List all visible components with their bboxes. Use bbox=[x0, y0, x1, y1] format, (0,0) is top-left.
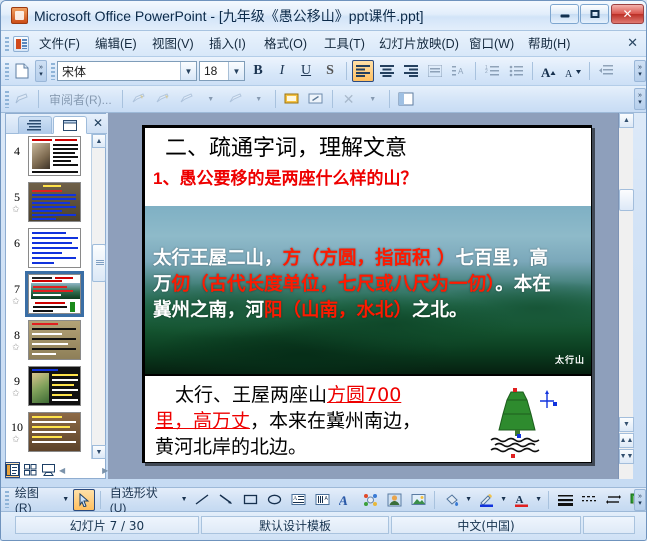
slide-title-band: 二、疏通字词，理解文意 1、愚公要移的是两座什么样的山？ bbox=[145, 128, 591, 206]
slides-pane: ✕ 4 bbox=[5, 113, 106, 479]
svg-text:A: A bbox=[293, 496, 298, 502]
close-button[interactable]: ✕ bbox=[611, 4, 644, 24]
close-document-button[interactable]: ✕ bbox=[627, 35, 638, 51]
edit-comment-icon[interactable] bbox=[305, 88, 327, 110]
apply-dropdown-icon[interactable]: ▼ bbox=[200, 88, 222, 110]
fill-color-tool[interactable] bbox=[440, 489, 462, 511]
draw-menu-button[interactable]: 绘图(R) bbox=[11, 489, 59, 511]
dash-style-tool[interactable] bbox=[578, 489, 600, 511]
slide-question-text[interactable]: 1、愚公要移的是两座什么样的山？ bbox=[153, 164, 417, 189]
scrollbar-thumb[interactable] bbox=[619, 189, 634, 211]
picture-tool[interactable] bbox=[407, 489, 429, 511]
toolbar-separator bbox=[100, 491, 101, 509]
minimize-button[interactable] bbox=[550, 4, 579, 24]
powerpoint-icon bbox=[11, 7, 28, 24]
menu-bar: 文件(F) 编辑(E) 视图(V) 插入(I) 格式(O) 工具(T) 幻灯片放… bbox=[1, 31, 647, 57]
svg-text:A: A bbox=[515, 494, 523, 506]
drawing-toolbar-overflow-icon[interactable]: »▾ bbox=[634, 489, 646, 511]
next-comment-icon[interactable] bbox=[152, 88, 174, 110]
slide-canvas-area[interactable]: 二、疏通字词，理解文意 1、愚公要移的是两座什么样的山？ 太行王屋二山，方（方圆… bbox=[108, 113, 633, 479]
menu-item-help[interactable]: 帮助(H) bbox=[522, 34, 576, 54]
toolbar-separator bbox=[346, 62, 347, 80]
align-center-button[interactable] bbox=[376, 60, 398, 82]
bold-button[interactable]: B bbox=[247, 60, 269, 82]
font-color-dropdown-icon[interactable]: ▼ bbox=[534, 489, 543, 511]
thumbnail-list[interactable]: 4 bbox=[6, 134, 92, 459]
numbered-list-button[interactable]: 12 bbox=[481, 60, 503, 82]
title-bar: Microsoft Office PowerPoint - [九年级《愚公移山》… bbox=[1, 1, 647, 31]
toolbar-separator bbox=[38, 90, 39, 108]
animation-star-icon: ✩ bbox=[12, 342, 20, 353]
current-slide[interactable]: 二、疏通字词，理解文意 1、愚公要移的是两座什么样的山？ 太行王屋二山，方（方圆… bbox=[142, 125, 592, 463]
line1-seg1: 太行王屋二山， bbox=[153, 248, 283, 269]
toolbar-separator bbox=[548, 491, 549, 509]
review-toolbar-grip-handle[interactable] bbox=[5, 91, 9, 108]
line-tool[interactable] bbox=[191, 489, 213, 511]
toolbar-separator bbox=[122, 90, 123, 108]
thumbnail-image[interactable] bbox=[28, 366, 81, 406]
work-area: ✕ 4 bbox=[1, 113, 647, 483]
toolbar-separator bbox=[332, 90, 333, 108]
thumbnail-number: 6 bbox=[6, 228, 28, 251]
bulleted-list-button[interactable] bbox=[505, 60, 527, 82]
slide-body-line-1[interactable]: 太行王屋二山，方（方圆，指面积 ）七百里，高 bbox=[153, 244, 548, 270]
line-spacing-button[interactable]: A bbox=[448, 60, 470, 82]
slide-body-line-2[interactable]: 万仞（古代长度单位，七尺或八尺为一仞）。本在 bbox=[153, 270, 551, 296]
menu-item-view[interactable]: 视图(V) bbox=[146, 34, 200, 54]
slide-body-line-3[interactable]: 冀州之南，河阳（山南，水北）之北。 bbox=[153, 296, 468, 322]
thumbnail-image-current[interactable] bbox=[28, 274, 81, 314]
font-name-input[interactable]: 宋体 ▼ bbox=[57, 61, 197, 81]
markup-icon[interactable] bbox=[11, 88, 33, 110]
menu-item-window[interactable]: 窗口(W) bbox=[463, 34, 520, 54]
powerpoint-window: Microsoft Office PowerPoint - [九年级《愚公移山》… bbox=[0, 0, 647, 541]
toolbar-separator bbox=[434, 491, 435, 509]
thumbnail-image[interactable] bbox=[28, 320, 81, 360]
toolbar-overflow-icon[interactable]: »▾ bbox=[634, 60, 646, 82]
font-size-input[interactable]: 18 ▼ bbox=[199, 61, 245, 81]
autoshapes-dropdown-icon[interactable]: ▼ bbox=[179, 489, 189, 511]
revisions-pane-icon[interactable] bbox=[395, 88, 417, 110]
review-toolbar-overflow-icon[interactable]: »▾ bbox=[634, 88, 646, 110]
delete-dropdown-icon[interactable]: ▼ bbox=[362, 88, 384, 110]
line1-seg2: 方（方圆，指面积 ） bbox=[283, 248, 456, 269]
close-pane-button[interactable]: ✕ bbox=[93, 116, 103, 130]
scroll-up-icon[interactable]: ▲ bbox=[619, 113, 634, 128]
increase-font-size-button[interactable]: A bbox=[538, 60, 560, 82]
slide-sorter-view-button[interactable] bbox=[23, 462, 38, 478]
hscroll-left-icon[interactable]: ◀ bbox=[59, 463, 65, 477]
thumbnail-scrollbar[interactable]: ▲ ▼ bbox=[91, 134, 105, 459]
thumbnail-image[interactable] bbox=[28, 136, 81, 176]
thumbnail-image[interactable] bbox=[28, 182, 81, 222]
list-item[interactable]: 7 ✩ bbox=[6, 272, 92, 318]
maximize-button[interactable] bbox=[580, 4, 609, 24]
menu-item-tools[interactable]: 工具(T) bbox=[318, 34, 371, 54]
fill-color-dropdown-icon[interactable]: ▼ bbox=[464, 489, 473, 511]
animation-star-icon: ✩ bbox=[12, 204, 20, 215]
draw-menu-dropdown-icon[interactable]: ▼ bbox=[61, 489, 71, 511]
menu-item-insert[interactable]: 插入(I) bbox=[203, 34, 252, 54]
animation-star-icon: ✩ bbox=[12, 434, 20, 445]
document-icon bbox=[13, 36, 29, 52]
thumbnail-number: 5 bbox=[6, 182, 28, 205]
font-size-dropdown-icon[interactable]: ▼ bbox=[228, 62, 244, 80]
thumbnail-number: 4 bbox=[6, 136, 28, 159]
status-bar: 幻灯片 7 / 30 默认设计模板 中文(中国) bbox=[1, 512, 647, 540]
toolbar-separator bbox=[532, 62, 533, 80]
toolbar-overflow-left-icon[interactable]: »▾ bbox=[35, 60, 47, 82]
svg-text:A: A bbox=[339, 493, 350, 507]
menu-item-file[interactable]: 文件(F) bbox=[33, 34, 86, 54]
next-slide-button[interactable]: ▼▼ bbox=[619, 449, 634, 464]
list-item[interactable]: 5 ✩ bbox=[6, 180, 92, 226]
status-language[interactable]: 中文(中国) bbox=[391, 516, 581, 534]
scrollbar-thumb[interactable] bbox=[92, 244, 106, 282]
toolbar-grip-handle[interactable] bbox=[5, 63, 9, 80]
reviewer-dropdown[interactable]: 审阅者(R)... bbox=[44, 88, 117, 110]
format-toolbar-grip-handle[interactable] bbox=[51, 63, 55, 80]
thumbnail-number: 10 bbox=[6, 412, 28, 435]
unapply-changes-icon[interactable] bbox=[224, 88, 246, 110]
thumbnail-image[interactable] bbox=[28, 412, 81, 452]
animation-star-icon: ✩ bbox=[12, 296, 20, 307]
line3-seg1: 冀州之南，河 bbox=[153, 300, 264, 321]
list-item[interactable]: 6 bbox=[6, 226, 92, 272]
list-item[interactable]: 8 ✩ bbox=[6, 318, 92, 364]
reviewing-toolbar: 审阅者(R)... ▼ ▼ ✕ ▼ bbox=[1, 86, 647, 113]
drawing-toolbar-grip-handle[interactable] bbox=[5, 491, 9, 508]
scroll-down-icon[interactable]: ▼ bbox=[619, 417, 634, 432]
bot2-seg2: 高万丈 bbox=[193, 410, 250, 432]
drawing-toolbar: 绘图(R) ▼ 自选形状(U) ▼ A A bbox=[1, 487, 647, 512]
slide-title[interactable]: 二、疏通字词，理解文意 bbox=[165, 130, 407, 162]
translation-line-1: 太行、王屋两座山方圆700 bbox=[175, 380, 401, 407]
photo-caption: 太行山 bbox=[555, 353, 585, 366]
slide-photo-background: 太行王屋二山，方（方圆，指面积 ）七百里，高 万仞（古代长度单位，七尺或八尺为一… bbox=[145, 206, 591, 374]
insert-comment-icon[interactable] bbox=[281, 88, 303, 110]
line1-seg3: 七百里，高 bbox=[455, 248, 548, 269]
font-name-dropdown-icon[interactable]: ▼ bbox=[180, 62, 196, 80]
delete-comment-icon[interactable]: ✕ bbox=[338, 88, 360, 110]
arrow-style-tool[interactable] bbox=[602, 489, 624, 511]
tree-and-water-clipart[interactable] bbox=[477, 380, 573, 458]
line-style-tool[interactable] bbox=[554, 489, 576, 511]
slide-vertical-scrollbar[interactable]: ▲ ▼ ▲▲ ▼▼ bbox=[618, 113, 633, 479]
menu-grip-handle[interactable] bbox=[5, 37, 9, 51]
formatting-toolbar: »▾ 宋体 ▼ 18 ▼ B I U S bbox=[1, 57, 647, 86]
menu-item-slideshow[interactable]: 幻灯片放映(D) bbox=[373, 34, 465, 54]
status-slide-indicator: 幻灯片 7 / 30 bbox=[15, 516, 199, 534]
svg-text:A: A bbox=[458, 67, 464, 76]
thumbnail-number: 8 bbox=[6, 320, 28, 343]
line3-seg3: 之北。 bbox=[412, 300, 468, 321]
view-mode-buttons: ◀ ▶ bbox=[5, 461, 106, 479]
previous-slide-button[interactable]: ▲▲ bbox=[619, 433, 634, 448]
toolbar-separator bbox=[275, 90, 276, 108]
scroll-up-icon[interactable]: ▲ bbox=[92, 134, 106, 148]
line2-seg3: 。本在 bbox=[495, 274, 551, 295]
decrease-indent-button[interactable] bbox=[595, 60, 617, 82]
apply-changes-icon[interactable] bbox=[176, 88, 198, 110]
unapply-dropdown-icon[interactable]: ▼ bbox=[248, 88, 270, 110]
bot2-seg3: ，本来在冀州南边， bbox=[250, 410, 421, 432]
list-item[interactable]: 4 bbox=[6, 134, 92, 180]
animation-star-icon: ✩ bbox=[12, 388, 20, 399]
menu-item-edit[interactable]: 编辑(E) bbox=[89, 34, 143, 54]
thumbnail-number: 9 bbox=[6, 366, 28, 389]
decrease-font-size-button[interactable]: A bbox=[562, 60, 584, 82]
bot1-seg2: 方圆700 bbox=[327, 384, 401, 406]
slide-show-view-button[interactable] bbox=[41, 462, 56, 478]
line2-seg2: 仞（古代长度单位，七尺或八尺为一仞） bbox=[172, 274, 496, 295]
translation-line-2: 里，高万丈，本来在冀州南边， bbox=[155, 406, 421, 433]
normal-view-button[interactable] bbox=[5, 462, 20, 478]
font-color-tool[interactable]: A bbox=[510, 489, 532, 511]
menu-item-format[interactable]: 格式(O) bbox=[258, 34, 313, 54]
svg-text:2: 2 bbox=[485, 69, 488, 75]
window-title: Microsoft Office PowerPoint - [九年级《愚公移山》… bbox=[34, 6, 424, 26]
tab-outline[interactable] bbox=[18, 116, 52, 134]
underline-button[interactable]: U bbox=[295, 60, 317, 82]
new-document-icon[interactable] bbox=[11, 60, 33, 82]
translation-line-3: 黄河北岸的北边。 bbox=[155, 432, 307, 459]
wordart-tool[interactable]: A bbox=[335, 489, 357, 511]
rectangle-tool[interactable] bbox=[239, 489, 261, 511]
font-size-value: 18 bbox=[204, 64, 217, 78]
slide-translation-band[interactable]: 太行、王屋两座山方圆700 里，高万丈，本来在冀州南边， 黄河北岸的北边。 bbox=[145, 376, 591, 462]
bot2-seg1: 里， bbox=[155, 410, 193, 432]
select-arrow-tool[interactable] bbox=[73, 489, 95, 511]
vertical-textbox-tool[interactable]: A bbox=[311, 489, 333, 511]
align-justify-button[interactable] bbox=[424, 60, 446, 82]
previous-comment-icon[interactable] bbox=[128, 88, 150, 110]
line3-seg2: 阳（山南，水北） bbox=[264, 300, 412, 321]
svg-text:A: A bbox=[541, 65, 551, 78]
scroll-down-icon[interactable]: ▼ bbox=[92, 445, 106, 459]
autoshapes-menu-button[interactable]: 自选形状(U) bbox=[106, 489, 177, 511]
toolbar-separator bbox=[589, 62, 590, 80]
thumbnail-number: 7 bbox=[6, 274, 28, 297]
thumbnail-image[interactable] bbox=[28, 228, 81, 268]
font-name-value: 宋体 bbox=[62, 63, 86, 80]
italic-button[interactable]: I bbox=[271, 60, 293, 82]
status-design-template[interactable]: 默认设计模板 bbox=[201, 516, 389, 534]
align-right-button[interactable] bbox=[400, 60, 422, 82]
list-item[interactable]: 9 ✩ bbox=[6, 364, 92, 410]
oval-tool[interactable] bbox=[263, 489, 285, 511]
line-color-dropdown-icon[interactable]: ▼ bbox=[499, 489, 508, 511]
align-left-button[interactable] bbox=[352, 60, 374, 82]
tab-slides[interactable] bbox=[53, 116, 87, 134]
textbox-tool[interactable]: A bbox=[287, 489, 309, 511]
arrow-tool[interactable] bbox=[215, 489, 237, 511]
clipart-tool[interactable] bbox=[383, 489, 405, 511]
status-blank-cell bbox=[583, 516, 635, 534]
toolbar-separator bbox=[475, 62, 476, 80]
diagram-tool[interactable] bbox=[359, 489, 381, 511]
list-item[interactable]: 10 ✩ bbox=[6, 410, 92, 456]
line-color-tool[interactable] bbox=[475, 489, 497, 511]
bot1-seg1: 太行、王屋两座山 bbox=[175, 384, 327, 406]
pane-tab-strip: ✕ bbox=[6, 114, 107, 134]
svg-text:A: A bbox=[565, 69, 573, 78]
shadow-button[interactable]: S bbox=[319, 60, 341, 82]
toolbar-separator bbox=[389, 90, 390, 108]
line2-seg1: 万 bbox=[153, 274, 172, 295]
